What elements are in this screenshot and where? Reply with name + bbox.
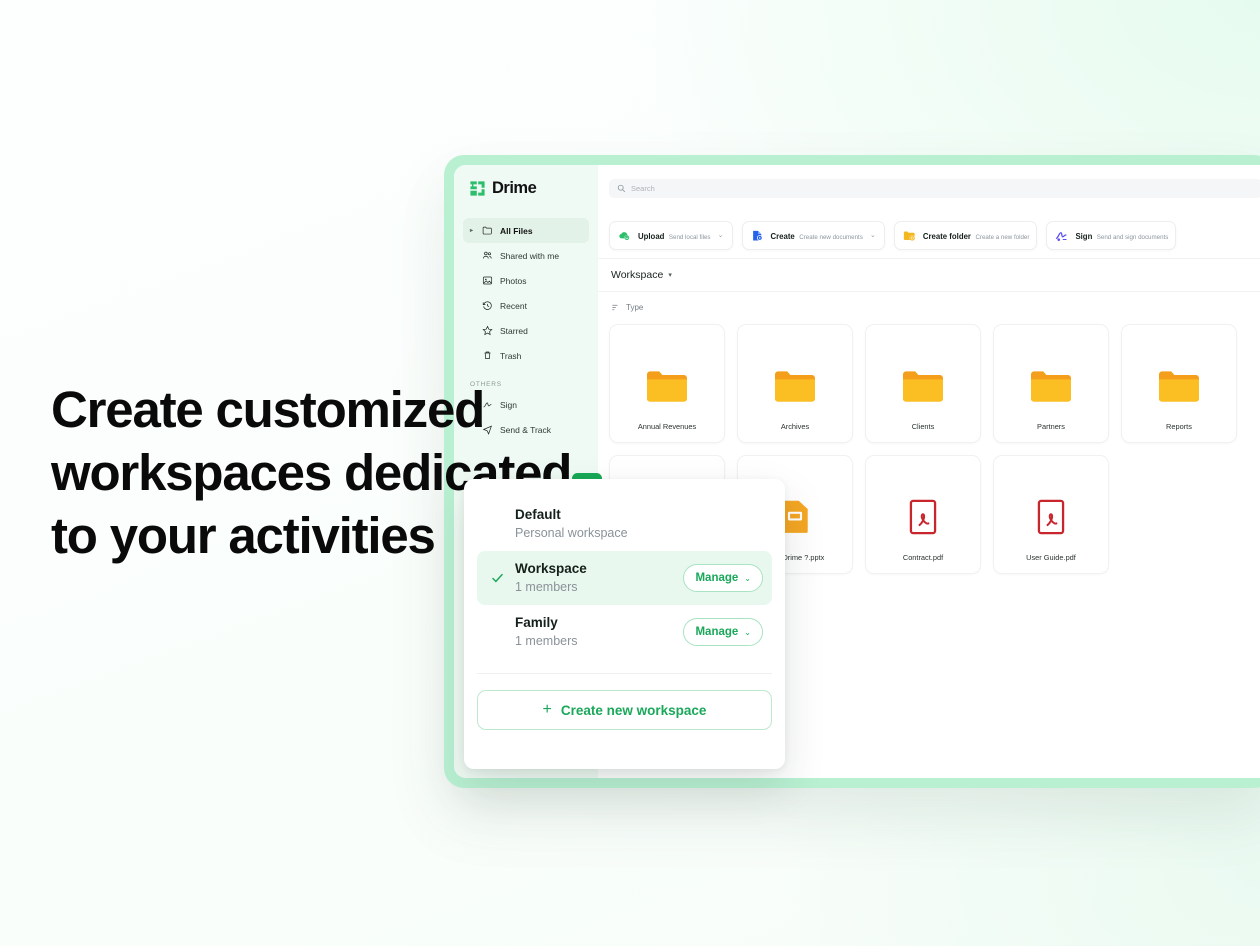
file-name: Archives xyxy=(742,422,848,431)
action-toolbar: Upload Send local files ⌄ xyxy=(598,212,1260,259)
workspace-option-workspace[interactable]: Workspace 1 members Manage ⌄ xyxy=(477,551,772,605)
sidebar-item-trash[interactable]: Trash xyxy=(463,343,589,368)
create-new-workspace-button[interactable]: + Create new workspace xyxy=(477,690,772,730)
create-button-subtitle: Create new documents xyxy=(799,234,863,241)
upload-button-title: Upload xyxy=(638,232,664,241)
sign-button-title: Sign xyxy=(1075,232,1092,241)
workspace-option-family[interactable]: Family 1 members Manage ⌄ xyxy=(477,605,772,659)
clock-history-icon xyxy=(482,300,493,311)
pdf-file-icon xyxy=(900,497,946,537)
brand-logo[interactable]: Drime xyxy=(454,165,598,212)
sidebar-item-recent[interactable]: Recent xyxy=(463,293,589,318)
app-topbar: Drime Search xyxy=(454,165,1260,212)
create-button-title: Create xyxy=(771,232,795,241)
upload-button-subtitle: Send local files xyxy=(669,234,711,241)
file-name: Reports xyxy=(1126,422,1232,431)
workspace-dropdown-panel: Default Personal workspace Workspace 1 m… xyxy=(464,479,785,769)
divider xyxy=(477,673,772,674)
upload-cloud-icon xyxy=(617,228,632,243)
upload-button[interactable]: Upload Send local files ⌄ xyxy=(609,221,733,250)
workspace-selector-label: Workspace xyxy=(611,269,663,281)
chevron-down-icon[interactable]: ⌄ xyxy=(869,231,877,239)
file-tile[interactable]: User Guide.pdf xyxy=(993,455,1109,574)
sidebar-item-label: Recent xyxy=(500,301,527,311)
sidebar-item-label: Shared with me xyxy=(500,251,559,261)
check-icon xyxy=(491,572,504,585)
file-tile[interactable]: Contract.pdf xyxy=(865,455,981,574)
sidebar-item-starred[interactable]: Starred xyxy=(463,318,589,343)
sidebar-item-all-files[interactable]: ▸ All Files xyxy=(463,218,589,243)
manage-button-label: Manage xyxy=(695,626,738,638)
drime-logo-icon xyxy=(469,180,486,197)
file-name: Clients xyxy=(870,422,976,431)
chevron-right-icon: ▸ xyxy=(470,228,475,234)
folder-icon xyxy=(482,225,493,236)
signature-icon xyxy=(1054,228,1069,243)
chevron-down-icon: ⌄ xyxy=(744,628,751,637)
new-folder-icon xyxy=(902,228,917,243)
workspace-subtitle: 1 members xyxy=(515,632,683,650)
sidebar-item-label: All Files xyxy=(500,226,533,236)
search-placeholder: Search xyxy=(631,184,655,193)
workspace-selector[interactable]: Workspace ▾ xyxy=(598,259,1260,292)
workspace-subtitle: 1 members xyxy=(515,578,683,596)
file-tile[interactable]: Clients xyxy=(865,324,981,443)
workspace-subtitle: Personal workspace xyxy=(515,524,763,542)
workspace-name: Family xyxy=(515,614,683,632)
create-document-icon xyxy=(750,228,765,243)
photo-icon xyxy=(482,275,493,286)
sidebar-item-shared-with-me[interactable]: Shared with me xyxy=(463,243,589,268)
folder-icon xyxy=(772,366,818,406)
sort-by-type[interactable]: Type xyxy=(598,292,1260,322)
file-tile[interactable]: Partners xyxy=(993,324,1109,443)
search-input[interactable]: Search xyxy=(609,179,1260,198)
create-folder-button[interactable]: Create folder Create a new folder xyxy=(894,221,1038,250)
workspace-option-default[interactable]: Default Personal workspace xyxy=(477,497,772,551)
create-folder-button-title: Create folder xyxy=(923,232,971,241)
manage-button-label: Manage xyxy=(695,572,738,584)
trash-icon xyxy=(482,350,493,361)
sidebar-item-photos[interactable]: Photos xyxy=(463,268,589,293)
sign-button[interactable]: Sign Send and sign documents xyxy=(1046,221,1176,250)
sidebar-item-label: Photos xyxy=(500,276,526,286)
manage-workspace-button[interactable]: Manage ⌄ xyxy=(683,564,763,592)
file-tile[interactable]: Archives xyxy=(737,324,853,443)
create-new-workspace-label: Create new workspace xyxy=(561,703,707,718)
users-icon xyxy=(482,250,493,261)
manage-workspace-button[interactable]: Manage ⌄ xyxy=(683,618,763,646)
chevron-down-icon[interactable]: ⌄ xyxy=(717,231,725,239)
folder-icon xyxy=(1156,366,1202,406)
folder-icon xyxy=(1028,366,1074,406)
sign-button-subtitle: Send and sign documents xyxy=(1097,234,1169,241)
file-name: Contract.pdf xyxy=(870,553,976,562)
file-name: User Guide.pdf xyxy=(998,553,1104,562)
headline-line-1: Create customized xyxy=(51,378,711,441)
plus-icon: + xyxy=(543,702,552,718)
create-folder-button-subtitle: Create a new folder xyxy=(975,234,1029,241)
workspace-name: Default xyxy=(515,506,763,524)
sidebar-item-label: Trash xyxy=(500,351,521,361)
sort-icon xyxy=(611,303,620,312)
star-icon xyxy=(482,325,493,336)
sort-by-type-label: Type xyxy=(626,303,643,312)
brand-name: Drime xyxy=(492,179,536,198)
create-button[interactable]: Create Create new documents ⌄ xyxy=(742,221,885,250)
chevron-down-icon: ⌄ xyxy=(744,574,751,583)
file-name: Partners xyxy=(998,422,1104,431)
chevron-down-icon: ▾ xyxy=(668,271,672,279)
search-icon xyxy=(617,184,626,193)
search-container: Search xyxy=(598,165,1260,212)
sidebar-item-label: Starred xyxy=(500,326,528,336)
file-tile[interactable]: Reports xyxy=(1121,324,1237,443)
folder-icon xyxy=(900,366,946,406)
pdf-file-icon xyxy=(1028,497,1074,537)
workspace-name: Workspace xyxy=(515,560,683,578)
